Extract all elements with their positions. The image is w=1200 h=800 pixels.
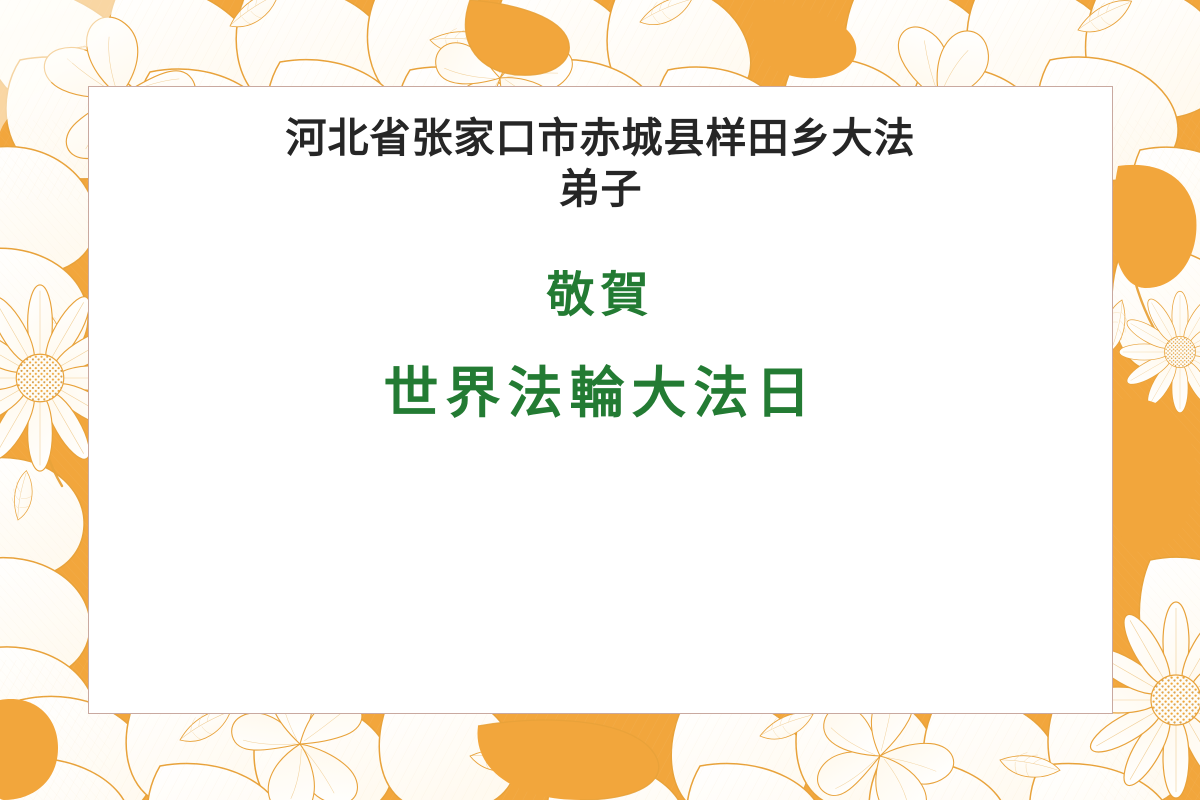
card-header-line-1: 河北省张家口市赤城县样田乡大法 xyxy=(144,113,1057,164)
card-salutation: 敬賀 xyxy=(144,267,1057,325)
spacer-above-title xyxy=(144,324,1057,360)
greeting-card-page: 河北省张家口市赤城县样田乡大法 弟子 敬賀 世界法輪大法日 xyxy=(0,0,1200,800)
greeting-card-panel: 河北省张家口市赤城县样田乡大法 弟子 敬賀 世界法輪大法日 xyxy=(88,86,1113,714)
card-main-title: 世界法輪大法日 xyxy=(144,360,1057,426)
card-content: 河北省张家口市赤城县样田乡大法 弟子 敬賀 世界法輪大法日 xyxy=(89,87,1112,426)
spacer-above-salutation xyxy=(144,215,1057,267)
card-header-line-2: 弟子 xyxy=(144,164,1057,215)
